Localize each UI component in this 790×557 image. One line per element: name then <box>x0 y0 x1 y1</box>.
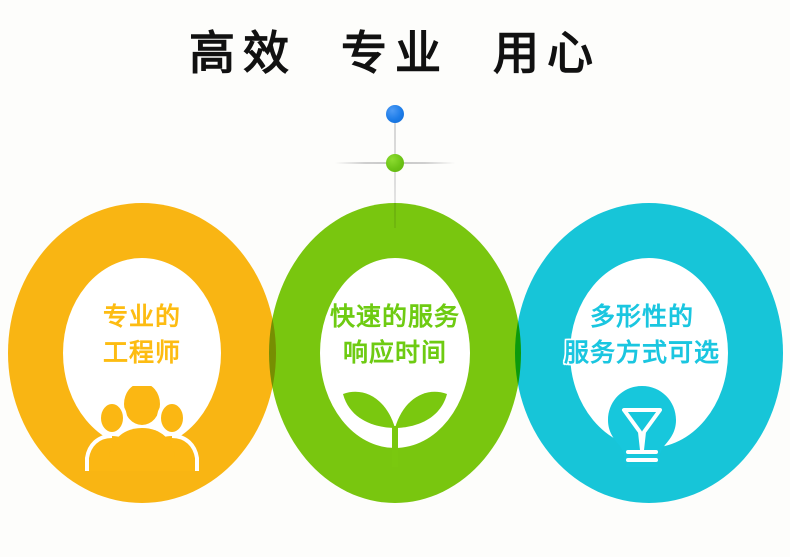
circle-card-fast-service-response: 快速的服务 响应时间 <box>295 300 495 371</box>
card-2-line-2: 响应时间 <box>295 336 495 372</box>
circle-card-professional-engineers: 专业的 工程师 <box>42 300 242 371</box>
poster-canvas: 高效专业用心 专业的 工程师 <box>0 0 790 557</box>
people-group-icon <box>72 386 212 471</box>
circle-card-flexible-service-modes: 多形性的 服务方式可选 <box>542 300 742 371</box>
card-3-line-2: 服务方式可选 <box>542 336 742 372</box>
card-3-line-1: 多形性的 <box>542 300 742 336</box>
card-1-line-2: 工程师 <box>42 336 242 372</box>
lightbulb-icon <box>572 382 712 467</box>
ring-interiors <box>0 0 790 557</box>
card-1-line-1: 专业的 <box>42 300 242 336</box>
card-2-line-1: 快速的服务 <box>295 300 495 336</box>
sprout-icon <box>325 382 465 467</box>
